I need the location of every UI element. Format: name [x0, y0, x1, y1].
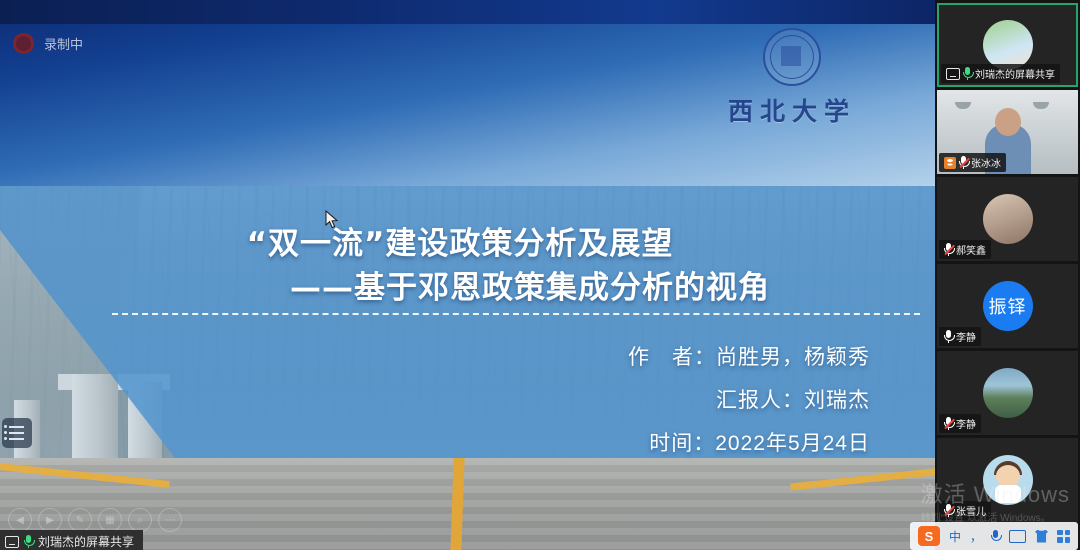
recording-label: 录制中 — [44, 34, 83, 53]
participant-tile-zhaozhenduo[interactable]: 振铎 李静 — [937, 264, 1078, 348]
recording-indicator: 录制中 — [13, 33, 83, 54]
shared-screen-area[interactable]: 西北大学 “双一流”建设政策分析及展望 ——基于邓恩政策集成分析的视角 作 者：… — [0, 0, 935, 550]
sogou-ime-toolbar[interactable]: S 中 ， — [910, 522, 1078, 550]
participant-tile-screenshare[interactable]: 刘瑞杰的屏幕共享 — [937, 3, 1078, 87]
ceiling-lamp — [955, 102, 971, 109]
recording-dot-icon — [13, 33, 34, 54]
person-head — [995, 108, 1021, 136]
mic-on-icon — [963, 67, 972, 80]
tile-label: 李静 — [939, 414, 981, 433]
watermark-line1: 激活 Windows — [921, 482, 1070, 507]
ceiling-lamp — [1033, 102, 1049, 109]
list-line — [9, 432, 24, 434]
tile-label: 刘瑞杰的屏幕共享 — [941, 64, 1060, 83]
participant-tile-haoxiaoxin[interactable]: 郝笑鑫 — [937, 177, 1078, 261]
tile-label: 郝笑鑫 — [939, 240, 991, 259]
slide-title: “双一流”建设政策分析及展望 ——基于邓恩政策集成分析的视角 — [0, 222, 920, 310]
list-line — [9, 426, 24, 428]
participant-tile-lijing[interactable]: 李静 — [937, 351, 1078, 435]
screen-share-icon — [5, 536, 19, 548]
avatar — [983, 20, 1033, 70]
previous-slide-icon[interactable]: ◀ — [8, 508, 32, 532]
slide-title-line1: “双一流”建设政策分析及展望 — [247, 226, 674, 262]
avatar — [983, 368, 1033, 418]
slide-divider — [112, 313, 920, 315]
participant-name: 郝笑鑫 — [956, 242, 986, 257]
university-mark: 西北大学 — [707, 28, 877, 120]
pen-tool-icon[interactable]: ✎ — [68, 508, 92, 532]
toolbox-icon[interactable] — [1057, 530, 1070, 543]
university-name: 西北大学 — [707, 92, 877, 128]
screen-share-status-bar: 刘瑞杰的屏幕共享 — [0, 530, 143, 550]
mic-off-icon — [944, 417, 953, 430]
skin-icon[interactable] — [1035, 530, 1048, 543]
participant-name: 李静 — [956, 416, 976, 431]
soft-keyboard-icon[interactable] — [1009, 530, 1026, 543]
avatar — [983, 194, 1033, 244]
slide-top-band — [0, 0, 935, 24]
slide-presenter: 汇报人：刘瑞杰 — [0, 379, 900, 422]
sogou-logo-icon[interactable]: S — [918, 526, 940, 546]
more-options-icon[interactable]: ⋯ — [158, 508, 182, 532]
zoom-tool-icon[interactable]: ⌕ — [128, 508, 152, 532]
mic-on-icon — [24, 535, 33, 548]
host-badge-icon — [944, 157, 956, 169]
slide-date: 时间：2022年5月24日 — [0, 422, 900, 465]
mic-on-icon — [944, 330, 953, 343]
tile-label: 李静 — [939, 327, 981, 346]
ime-punctuation-mode[interactable]: ， — [970, 528, 982, 545]
ime-language-mode[interactable]: 中 — [949, 528, 961, 545]
participant-video-panel[interactable]: 刘瑞杰的屏幕共享 张冰冰 — [935, 0, 1080, 550]
windows-activation-watermark: 激活 Windows 转到“设置”以激活 Windows。 — [921, 477, 1070, 524]
mic-off-icon — [944, 243, 953, 256]
screen-share-owner: 刘瑞杰的屏幕共享 — [38, 533, 134, 550]
tile-label: 张冰冰 — [939, 153, 1006, 172]
slide-list-icon[interactable] — [2, 418, 32, 448]
screen-share-icon — [946, 68, 960, 80]
next-slide-icon[interactable]: ▶ — [38, 508, 62, 532]
slide-meta: 作 者：尚胜男，杨颖秀 汇报人：刘瑞杰 时间：2022年5月24日 — [0, 336, 900, 465]
slide-grid-icon[interactable]: ▦ — [98, 508, 122, 532]
slide-title-line2: ——基于邓恩政策集成分析的视角 — [0, 266, 920, 310]
zoom-meeting-window: 西北大学 “双一流”建设政策分析及展望 ——基于邓恩政策集成分析的视角 作 者：… — [0, 0, 1080, 550]
participant-name: 张冰冰 — [971, 155, 1001, 170]
powerpoint-presenter-controls[interactable]: ◀ ▶ ✎ ▦ ⌕ ⋯ — [8, 508, 182, 532]
voice-input-icon[interactable] — [991, 530, 1000, 543]
university-seal-icon — [763, 28, 821, 86]
participant-name: 李静 — [956, 329, 976, 344]
slide-authors: 作 者：尚胜男，杨颖秀 — [0, 336, 900, 379]
participant-name: 刘瑞杰的屏幕共享 — [975, 66, 1055, 81]
mic-off-icon — [959, 156, 968, 169]
participant-tile-zhangbingbing[interactable]: 张冰冰 — [937, 90, 1078, 174]
avatar-initials: 振铎 — [983, 281, 1033, 331]
mouse-cursor — [325, 210, 339, 230]
list-line — [9, 438, 24, 440]
